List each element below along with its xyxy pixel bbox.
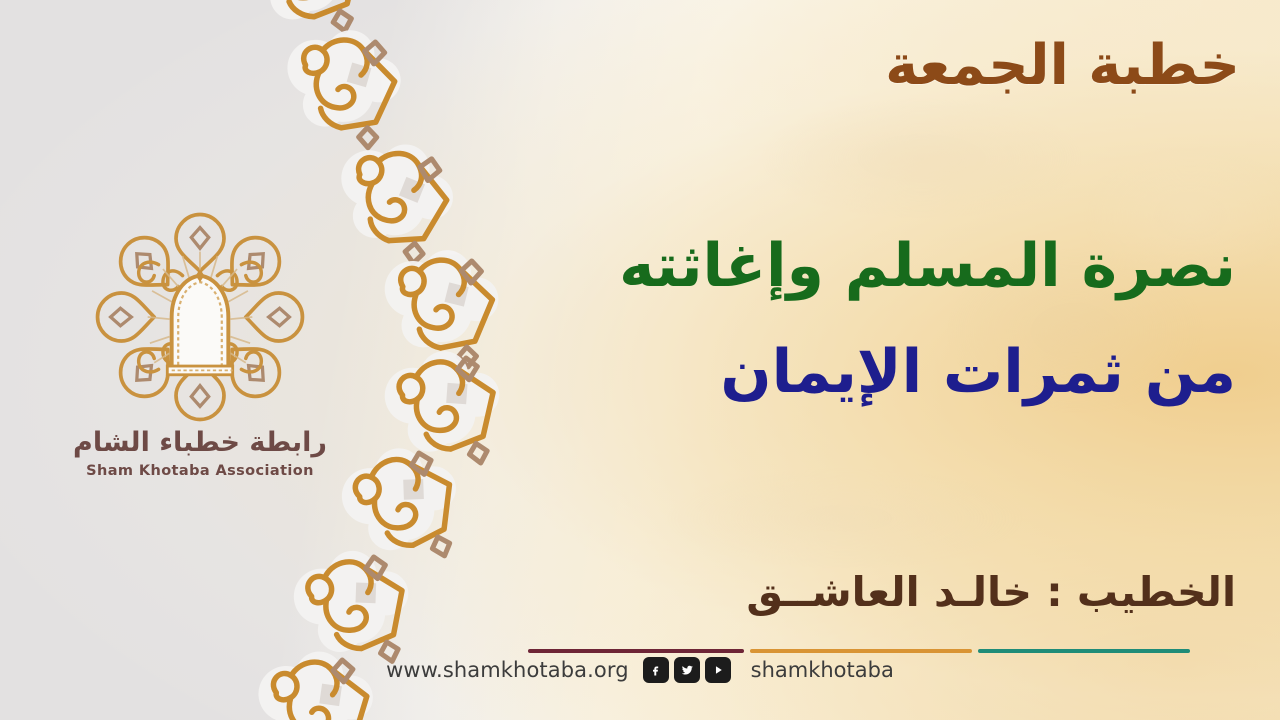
divider-maroon: [528, 649, 744, 653]
speaker-name: الخطيب : خالـد العاشــق: [746, 572, 1236, 613]
association-logo: رابطة خطباء الشام Sham Khotaba Associati…: [62, 208, 338, 479]
website-url[interactable]: www.shamkhotaba.org: [386, 658, 629, 682]
title-line-1: نصرة المسلم وإغاثته: [516, 236, 1236, 296]
mihrab-rosette-icon: [91, 208, 309, 426]
logo-arabic-name: رابطة خطباء الشام: [62, 428, 338, 458]
page-title: نصرة المسلم وإغاثته من ثمرات الإيمان: [516, 236, 1236, 402]
footer-bar: www.shamkhotaba.org shamkhotaba: [0, 657, 1280, 683]
facebook-icon[interactable]: [643, 657, 669, 683]
sermon-poster: رابطة خطباء الشام Sham Khotaba Associati…: [0, 0, 1280, 720]
social-links: [643, 657, 731, 683]
logo-english-name: Sham Khotaba Association: [62, 463, 338, 479]
title-line-2: من ثمرات الإيمان: [516, 342, 1236, 402]
page-kicker: خطبة الجمعة: [885, 38, 1240, 94]
twitter-icon[interactable]: [674, 657, 700, 683]
youtube-icon[interactable]: [705, 657, 731, 683]
divider-teal: [978, 649, 1190, 653]
divider-orange: [750, 649, 972, 653]
social-handle[interactable]: shamkhotaba: [751, 658, 894, 682]
